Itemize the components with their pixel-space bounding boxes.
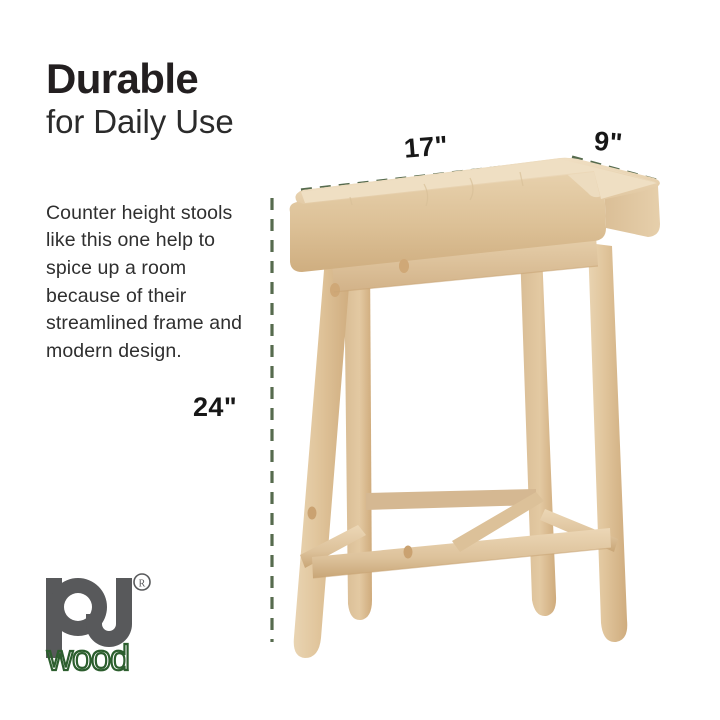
dowel-plug — [404, 546, 413, 559]
dowel-plug — [399, 259, 409, 273]
leg-front-left — [294, 258, 351, 658]
dimension-label-depth: 9" — [593, 126, 624, 159]
headline-block: Durable for Daily Use — [46, 58, 346, 141]
stool-body — [290, 158, 660, 658]
stretcher-rear — [366, 489, 536, 510]
leg-front-right — [588, 243, 627, 642]
dimension-label-width: 17" — [403, 130, 449, 164]
leg-back-right — [520, 250, 556, 616]
dowel-plug — [330, 283, 340, 297]
logo-wordmark-wood: wood — [46, 637, 129, 674]
infographic-canvas: Durable for Daily Use Counter height sto… — [0, 0, 720, 720]
page-title: Durable — [46, 58, 346, 101]
page-subtitle: for Daily Use — [46, 104, 346, 141]
brand-logo: R wood — [44, 562, 194, 674]
dowel-plug — [308, 507, 317, 520]
svg-text:R: R — [139, 579, 146, 590]
registered-trademark-icon: R — [134, 574, 150, 590]
dimension-label-height: 24" — [193, 392, 237, 423]
body-paragraph: Counter height stools like this one help… — [46, 200, 254, 366]
